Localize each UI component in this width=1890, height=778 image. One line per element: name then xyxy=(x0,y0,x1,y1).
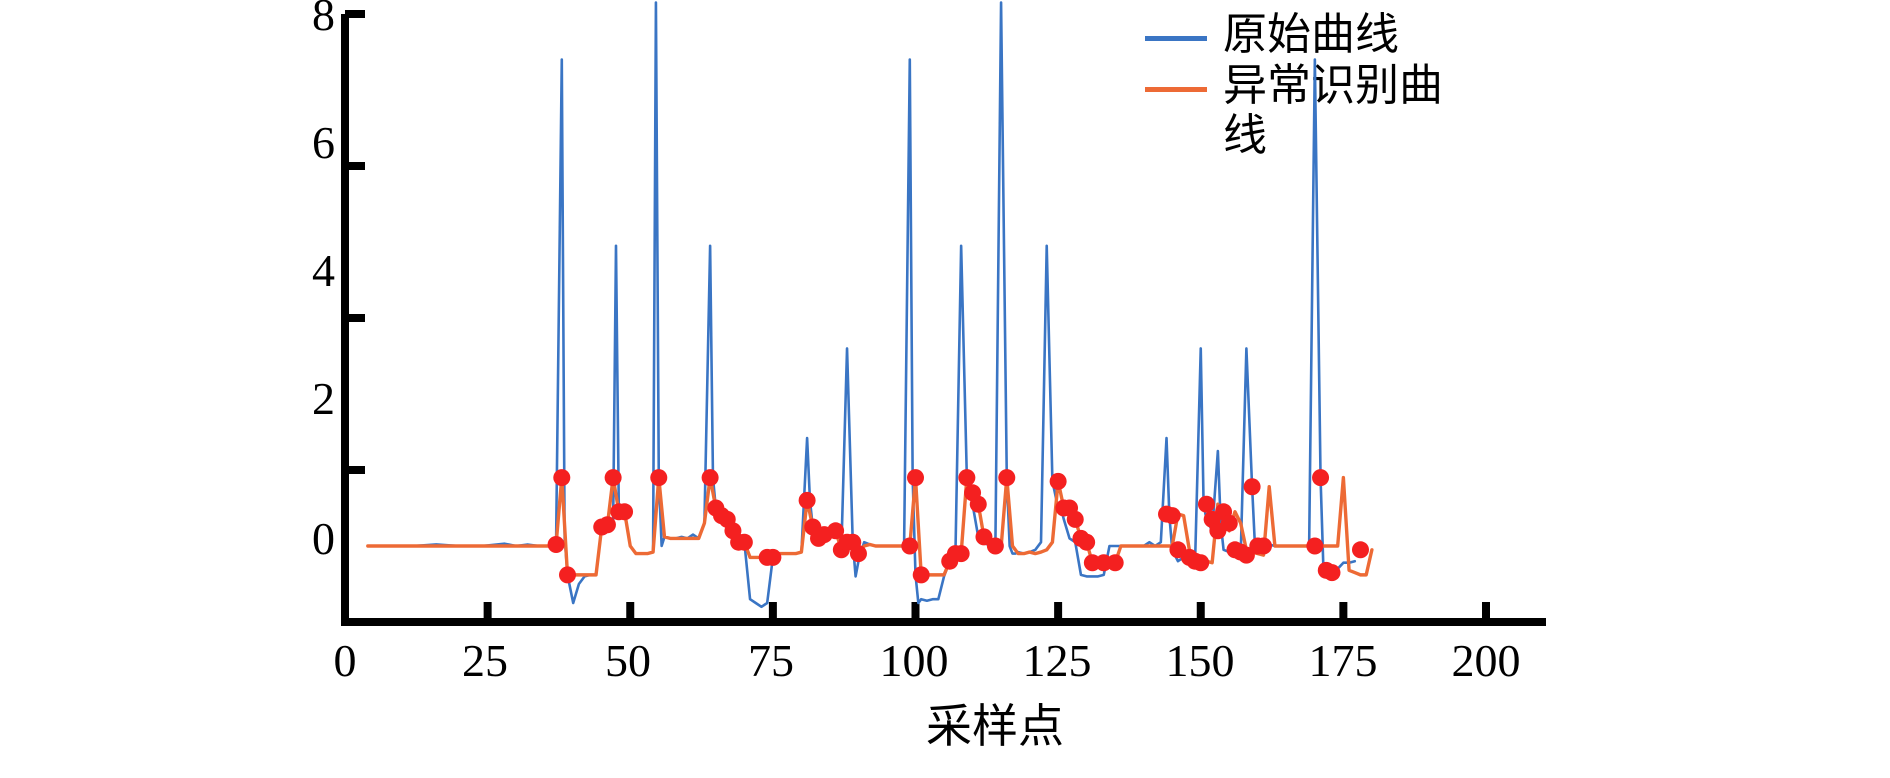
anomaly-marker xyxy=(1244,478,1261,495)
anomaly-marker xyxy=(764,549,781,566)
anomaly-marker xyxy=(1078,534,1095,551)
anomaly-marker xyxy=(650,469,667,486)
anomaly-marker xyxy=(553,469,570,486)
anomaly-marker-layer xyxy=(548,469,1369,583)
anomaly-marker xyxy=(1107,554,1124,571)
axis-layer xyxy=(341,14,1546,622)
anomaly-marker xyxy=(1192,554,1209,571)
anomaly-marker xyxy=(1312,469,1329,486)
anomaly-marker xyxy=(599,516,616,533)
anomaly-marker xyxy=(998,469,1015,486)
anomaly-marker xyxy=(1306,538,1323,555)
anomaly-marker xyxy=(1352,541,1369,558)
anomaly-marker xyxy=(702,469,719,486)
anomaly-marker xyxy=(616,503,633,520)
anomaly-marker xyxy=(559,566,576,583)
anomaly-marker xyxy=(1221,515,1238,532)
anomaly-marker xyxy=(1164,507,1181,524)
anomaly-marker xyxy=(953,545,970,562)
anomaly-marker xyxy=(1323,564,1340,581)
anomaly-marker xyxy=(799,492,816,509)
anomaly-marker xyxy=(913,566,930,583)
plot-area xyxy=(0,0,1890,778)
anomaly-marker xyxy=(987,538,1004,555)
anomaly-marker xyxy=(736,534,753,551)
anomaly-marker xyxy=(1198,496,1215,513)
anomaly-marker xyxy=(901,538,918,555)
anomaly-marker xyxy=(850,545,867,562)
anomaly-marker xyxy=(1067,511,1084,528)
anomaly-marker xyxy=(605,469,622,486)
anomaly-marker xyxy=(1255,538,1272,555)
anomaly-marker xyxy=(1050,473,1067,490)
anomaly-marker xyxy=(970,496,987,513)
chart-figure: 比力值矢量和/g 8 6 4 2 0 0 25 50 75 100 125 15… xyxy=(0,0,1890,778)
anomaly-marker xyxy=(548,536,565,553)
anomaly-marker xyxy=(958,469,975,486)
anomaly-marker xyxy=(907,469,924,486)
